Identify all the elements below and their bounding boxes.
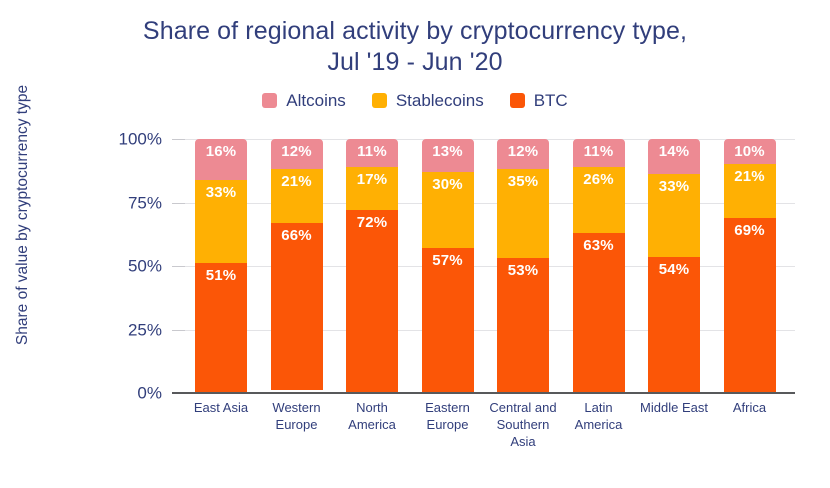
bar-segment-label: 54% [648, 261, 700, 279]
bar-segment[interactable]: 69% [724, 218, 776, 393]
bar-stack[interactable]: 11%17%72% [346, 139, 398, 393]
bar-segment[interactable]: 33% [195, 180, 247, 264]
bar-segment[interactable]: 63% [573, 233, 625, 393]
y-axis-tick-label: 75% [92, 193, 162, 212]
x-axis-tick-label: Middle East [631, 399, 717, 416]
legend-label: Stablecoins [396, 91, 484, 110]
y-axis-tick-label: 100% [92, 130, 162, 149]
bar-stack[interactable]: 11%26%63% [573, 139, 625, 393]
bar-segment[interactable]: 51% [195, 263, 247, 393]
x-axis-tick-label: LatinAmerica [556, 399, 642, 433]
bar-segment-label: 72% [346, 214, 398, 232]
chart-title-line2: Jul '19 - Jun '20 [0, 47, 830, 78]
bar-segment-label: 33% [195, 184, 247, 202]
y-axis-tick-mark [172, 139, 185, 140]
y-axis-tick-label: 50% [92, 257, 162, 276]
bar-segment-label: 14% [648, 143, 700, 161]
x-axis-tick-label-line: Middle East [631, 399, 717, 416]
bar-segment-label: 33% [648, 178, 700, 196]
legend-item[interactable]: BTC [510, 91, 568, 110]
legend-swatch-icon [372, 93, 387, 108]
bar-segment[interactable]: 30% [422, 172, 474, 248]
x-axis-tick-label-line: Europe [254, 416, 340, 433]
bar-segment-label: 11% [573, 143, 625, 161]
bar-segment[interactable]: 54% [648, 257, 700, 393]
bar-segment[interactable]: 26% [573, 167, 625, 233]
bar-segment-label: 12% [497, 143, 549, 161]
bar-segment-label: 13% [422, 143, 474, 161]
bar-stack[interactable]: 13%30%57% [422, 139, 474, 393]
x-axis-tick-label-line: Europe [405, 416, 491, 433]
bar-segment[interactable]: 21% [724, 164, 776, 217]
x-axis-tick-label: EasternEurope [405, 399, 491, 433]
bar-segment-label: 11% [346, 143, 398, 161]
y-axis-title: Share of value by cryptocurrency type [14, 55, 32, 375]
x-axis-tick-label: Africa [707, 399, 793, 416]
bar-segment[interactable]: 16% [195, 139, 247, 180]
bar-segment[interactable]: 13% [422, 139, 474, 172]
bar-stack[interactable]: 14%33%54% [648, 139, 700, 393]
bar-segment[interactable]: 10% [724, 139, 776, 164]
bar-segment-label: 30% [422, 176, 474, 194]
chart-container: Share of regional activity by cryptocurr… [0, 0, 830, 488]
bar-segment[interactable]: 14% [648, 139, 700, 174]
chart-title: Share of regional activity by cryptocurr… [0, 16, 830, 78]
y-axis-tick-label: 25% [92, 320, 162, 339]
x-axis-tick-label-line: North [329, 399, 415, 416]
bar-segment-label: 57% [422, 252, 474, 270]
x-axis-tick-label: NorthAmerica [329, 399, 415, 433]
bar-segment[interactable]: 21% [271, 169, 323, 222]
bar-segment-label: 16% [195, 143, 247, 161]
bar-segment[interactable]: 12% [271, 139, 323, 169]
x-axis-tick-label-line: America [329, 416, 415, 433]
chart-title-line1: Share of regional activity by cryptocurr… [143, 17, 687, 45]
bar-segment-label: 69% [724, 222, 776, 240]
x-axis-tick-label-line: Central and [480, 399, 566, 416]
x-axis-line [172, 392, 795, 394]
bar-segment-label: 66% [271, 227, 323, 245]
bar-stack[interactable]: 10%21%69% [724, 139, 776, 393]
legend-item[interactable]: Stablecoins [372, 91, 484, 110]
y-axis-tick-mark [172, 203, 185, 204]
bar-segment[interactable]: 57% [422, 248, 474, 393]
x-axis-tick-label-line: Eastern [405, 399, 491, 416]
y-axis-tick-label: 0% [92, 384, 162, 403]
bar-segment[interactable]: 11% [346, 139, 398, 167]
x-axis-tick-label: East Asia [178, 399, 264, 416]
x-axis-tick-label-line: Southern [480, 416, 566, 433]
bar-segment-label: 21% [271, 173, 323, 191]
bar-segment-label: 53% [497, 262, 549, 280]
y-axis-tick-mark [172, 266, 185, 267]
bar-segment[interactable]: 33% [648, 174, 700, 257]
x-axis-tick-label: Central andSouthernAsia [480, 399, 566, 450]
bar-segment[interactable]: 53% [497, 258, 549, 393]
bar-stack[interactable]: 16%33%51% [195, 139, 247, 393]
bar-segment[interactable]: 11% [573, 139, 625, 167]
bar-segment-label: 21% [724, 168, 776, 186]
x-axis-tick-label-line: Western [254, 399, 340, 416]
bar-stack[interactable]: 12%21%66% [271, 139, 323, 393]
legend-swatch-icon [262, 93, 277, 108]
bar-segment[interactable]: 12% [497, 139, 549, 169]
legend-item[interactable]: Altcoins [262, 91, 346, 110]
bar-segment[interactable]: 17% [346, 167, 398, 210]
x-axis-tick-label-line: East Asia [178, 399, 264, 416]
x-axis-tick-label-line: Africa [707, 399, 793, 416]
x-axis-tick-label: WesternEurope [254, 399, 340, 433]
x-axis-tick-label-line: Asia [480, 433, 566, 450]
bar-segment[interactable]: 66% [271, 223, 323, 391]
bar-segment-label: 10% [724, 143, 776, 161]
bar-stack[interactable]: 12%35%53% [497, 139, 549, 393]
bar-segment-label: 26% [573, 171, 625, 189]
bar-segment-label: 63% [573, 237, 625, 255]
bar-segment-label: 12% [271, 143, 323, 161]
bar-segment-label: 17% [346, 171, 398, 189]
bar-segment-label: 51% [195, 267, 247, 285]
plot-area: 16%33%51%12%21%66%11%17%72%13%30%57%12%3… [185, 139, 795, 393]
legend-swatch-icon [510, 93, 525, 108]
x-axis-tick-label-line: America [556, 416, 642, 433]
legend-label: Altcoins [286, 91, 346, 110]
y-axis-tick-mark [172, 330, 185, 331]
legend-label: BTC [534, 91, 568, 110]
x-axis-tick-label-line: Latin [556, 399, 642, 416]
chart-legend: AltcoinsStablecoinsBTC [0, 91, 830, 110]
bar-segment-label: 35% [497, 173, 549, 191]
bar-segment[interactable]: 35% [497, 169, 549, 258]
bar-segment[interactable]: 72% [346, 210, 398, 393]
